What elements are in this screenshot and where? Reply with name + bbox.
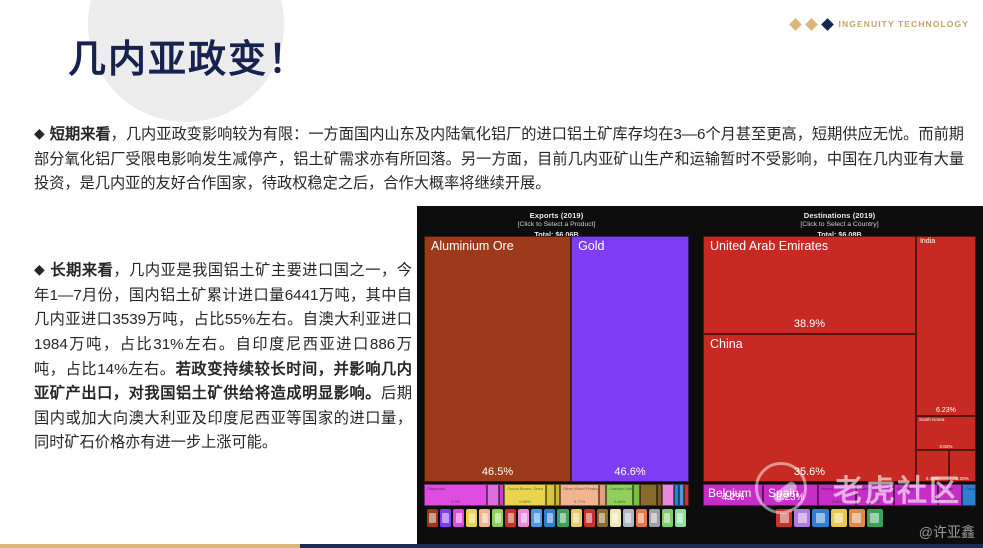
legend-chip-icon[interactable] bbox=[675, 509, 686, 527]
treemap-mini-tile-percent: 0.46% bbox=[607, 499, 632, 504]
treemap-tile-percent: 46.5% bbox=[425, 466, 570, 478]
treemap-tile-label: United Arab Emirates bbox=[710, 239, 828, 253]
brand-logo: INGENUITY TECHNOLOGY bbox=[791, 19, 969, 29]
treemap-tile-percent: 35.6% bbox=[704, 466, 915, 478]
legend-chip-icon[interactable] bbox=[466, 509, 477, 527]
footer-accent-bar bbox=[0, 544, 983, 548]
legend-chip-icon[interactable] bbox=[531, 509, 542, 527]
watermark-handle: @许亚鑫 bbox=[919, 522, 975, 542]
bullet-icon-1: ◆ bbox=[34, 125, 45, 141]
treemap-mini-tile-percent: 0.98% bbox=[505, 499, 544, 504]
paragraph-1-text: ，几内亚政变影响较为有限：一方面国内山东及内陆氧化铝厂的进口铝土矿库存均在3—6… bbox=[34, 126, 964, 192]
treemap-mini-tile[interactable] bbox=[546, 484, 556, 506]
treemap-tile[interactable]: China35.6% bbox=[703, 334, 916, 482]
panel-destinations-header: Destinations (2019) [Click to Select a C… bbox=[696, 206, 983, 239]
treemap-tile[interactable]: 0.49% bbox=[916, 450, 949, 482]
treemap-tile[interactable]: 0.39% bbox=[949, 450, 976, 482]
legend-chip-icon[interactable] bbox=[479, 509, 490, 527]
destinations-legend[interactable] bbox=[776, 509, 883, 527]
treemap-mini-tile-percent: 1.5% bbox=[895, 499, 937, 504]
treemap-mini-tile[interactable] bbox=[640, 484, 657, 506]
treemap-mini-tile[interactable]: Canada bbox=[962, 484, 976, 506]
legend-chip-icon[interactable] bbox=[812, 509, 828, 527]
treemap-mini-tile-percent: 2.5% bbox=[819, 499, 855, 504]
treemap-mini-tile-percent: 0.77% bbox=[561, 499, 598, 504]
legend-chip-icon[interactable] bbox=[505, 509, 516, 527]
treemap-chart-image[interactable]: Exports (2019) [Click to Select a Produc… bbox=[417, 206, 983, 548]
panel-destinations-subtitle: [Click to Select a Country] bbox=[696, 221, 983, 230]
legend-chip-icon[interactable] bbox=[849, 509, 865, 527]
treemap-tile-percent: 6.23% bbox=[917, 407, 975, 414]
page-title: 几内亚政变！ bbox=[68, 28, 308, 83]
legend-chip-icon[interactable] bbox=[597, 509, 608, 527]
footer-accent-tan bbox=[0, 544, 300, 548]
treemap-tile-label: Gold bbox=[578, 239, 604, 253]
treemap-mini-tile-label: Ireland bbox=[821, 486, 833, 491]
treemap-mini-tile[interactable]: Cashew Nuts0.46% bbox=[606, 484, 633, 506]
treemap-tile[interactable]: South Korea0.82% bbox=[916, 416, 976, 450]
treemap-mini-tile-label: Cocoa Beans, Dried bbox=[507, 486, 543, 491]
legend-chip-icon[interactable] bbox=[794, 509, 810, 527]
bullet-icon-2: ◆ bbox=[34, 261, 45, 277]
treemap-tile-percent: 0.82% bbox=[917, 444, 975, 449]
legend-chip-icon[interactable] bbox=[440, 509, 451, 527]
destinations-mini-tiles[interactable]: Belgium4.2%Spain3.23%Ireland2.5%Switzerl… bbox=[703, 484, 976, 506]
diamond-icon-3 bbox=[821, 18, 834, 31]
treemap-mini-tile-percent: 2.0% bbox=[425, 499, 486, 504]
treemap-mini-tile[interactable]: Cocoa Beans, Dried0.98% bbox=[504, 484, 545, 506]
treemap-mini-tile-label: Diamonds bbox=[427, 486, 445, 491]
treemap-tile-label: China bbox=[710, 337, 743, 351]
legend-chip-icon[interactable] bbox=[427, 509, 438, 527]
legend-chip-icon[interactable] bbox=[584, 509, 595, 527]
destinations-treemap-tiles[interactable]: United Arab Emirates38.9%China35.6%India… bbox=[703, 236, 976, 482]
treemap-mini-tile[interactable]: Other Wood Products0.77% bbox=[560, 484, 599, 506]
treemap-mini-tile[interactable]: Ireland2.5% bbox=[818, 484, 856, 506]
panel-destinations[interactable]: Destinations (2019) [Click to Select a C… bbox=[696, 206, 983, 548]
legend-chip-icon[interactable] bbox=[636, 509, 647, 527]
legend-chip-icon[interactable] bbox=[623, 509, 634, 527]
legend-chip-icon[interactable] bbox=[492, 509, 503, 527]
treemap-tile-percent: 0.49% bbox=[917, 476, 948, 481]
panel-exports-subtitle: [Click to Select a Product] bbox=[417, 221, 696, 230]
treemap-tile-percent: 0.39% bbox=[950, 476, 975, 481]
treemap-mini-tile[interactable]: Germany1.5% bbox=[894, 484, 938, 506]
panel-exports-header: Exports (2019) [Click to Select a Produc… bbox=[417, 206, 696, 239]
panel-exports-title: Exports (2019) bbox=[417, 211, 696, 221]
legend-chip-icon[interactable] bbox=[544, 509, 555, 527]
logo-text: INGENUITY TECHNOLOGY bbox=[839, 19, 969, 29]
treemap-mini-tile[interactable]: Diamonds2.0% bbox=[424, 484, 487, 506]
treemap-mini-tile[interactable] bbox=[684, 484, 689, 506]
treemap-tile-label: India bbox=[920, 238, 935, 245]
footer-accent-navy bbox=[300, 544, 983, 548]
exports-treemap-tiles[interactable]: Aluminium Ore46.5%Gold46.6% bbox=[424, 236, 689, 482]
treemap-mini-tile[interactable]: France1.0% bbox=[938, 484, 963, 506]
legend-chip-icon[interactable] bbox=[649, 509, 660, 527]
treemap-tile[interactable]: United Arab Emirates38.9% bbox=[703, 236, 916, 334]
legend-chip-icon[interactable] bbox=[867, 509, 883, 527]
treemap-mini-tile-label: Cashew Nuts bbox=[609, 486, 633, 491]
diamond-icon-2 bbox=[805, 18, 818, 31]
legend-chip-icon[interactable] bbox=[571, 509, 582, 527]
paragraph-1-lead: 短期来看 bbox=[50, 126, 111, 143]
treemap-tile[interactable]: Aluminium Ore46.5% bbox=[424, 236, 571, 482]
exports-mini-tiles[interactable]: Diamonds2.0%Cocoa Beans, Dried0.98%Other… bbox=[424, 484, 689, 506]
treemap-tile-percent: 38.9% bbox=[704, 318, 915, 330]
legend-chip-icon[interactable] bbox=[557, 509, 568, 527]
treemap-tile-label: South Korea bbox=[919, 417, 945, 422]
treemap-mini-tile-label: Switzerland bbox=[859, 486, 880, 491]
treemap-mini-tile[interactable] bbox=[487, 484, 499, 506]
exports-legend[interactable] bbox=[427, 509, 686, 527]
diamond-icon-1 bbox=[789, 18, 802, 31]
legend-chip-icon[interactable] bbox=[518, 509, 529, 527]
paragraph-long-term: ◆长期来看，几内亚是我国铝土矿主要进口国之一，今年1—7月份，国内铝土矿累计进口… bbox=[34, 258, 412, 456]
treemap-mini-tile-percent: 2.0% bbox=[857, 499, 893, 504]
legend-chip-icon[interactable] bbox=[453, 509, 464, 527]
legend-chip-icon[interactable] bbox=[662, 509, 673, 527]
legend-chip-icon[interactable] bbox=[831, 509, 847, 527]
treemap-tile[interactable]: Gold46.6% bbox=[571, 236, 689, 482]
treemap-tile-percent: 46.6% bbox=[572, 466, 688, 478]
treemap-tile-label: Aluminium Ore bbox=[431, 239, 514, 253]
treemap-mini-tile-label: Canada bbox=[965, 486, 976, 491]
panel-destinations-title: Destinations (2019) bbox=[696, 211, 983, 221]
paragraph-short-term: ◆短期来看，几内亚政变影响较为有限：一方面国内山东及内陆氧化铝厂的进口铝土矿库存… bbox=[34, 122, 964, 197]
treemap-mini-tile-percent: 1.0% bbox=[939, 499, 962, 504]
treemap-mini-tile-percent: 4.2% bbox=[704, 492, 762, 503]
treemap-mini-tile-label: Other Wood Products bbox=[563, 486, 599, 491]
treemap-tile[interactable]: India6.23% bbox=[916, 236, 976, 416]
watermark-ring-icon bbox=[755, 462, 807, 514]
treemap-mini-tile[interactable] bbox=[599, 484, 606, 506]
treemap-mini-tile-label: Germany bbox=[897, 486, 913, 491]
treemap-mini-tile-label: France bbox=[941, 486, 953, 491]
treemap-mini-tile[interactable]: Switzerland2.0% bbox=[856, 484, 894, 506]
legend-chip-icon[interactable] bbox=[610, 509, 621, 527]
paragraph-2-lead: 长期来看 bbox=[50, 262, 113, 279]
treemap-mini-tile[interactable] bbox=[633, 484, 640, 506]
treemap-mini-tile[interactable] bbox=[662, 484, 674, 506]
panel-exports[interactable]: Exports (2019) [Click to Select a Produc… bbox=[417, 206, 696, 548]
